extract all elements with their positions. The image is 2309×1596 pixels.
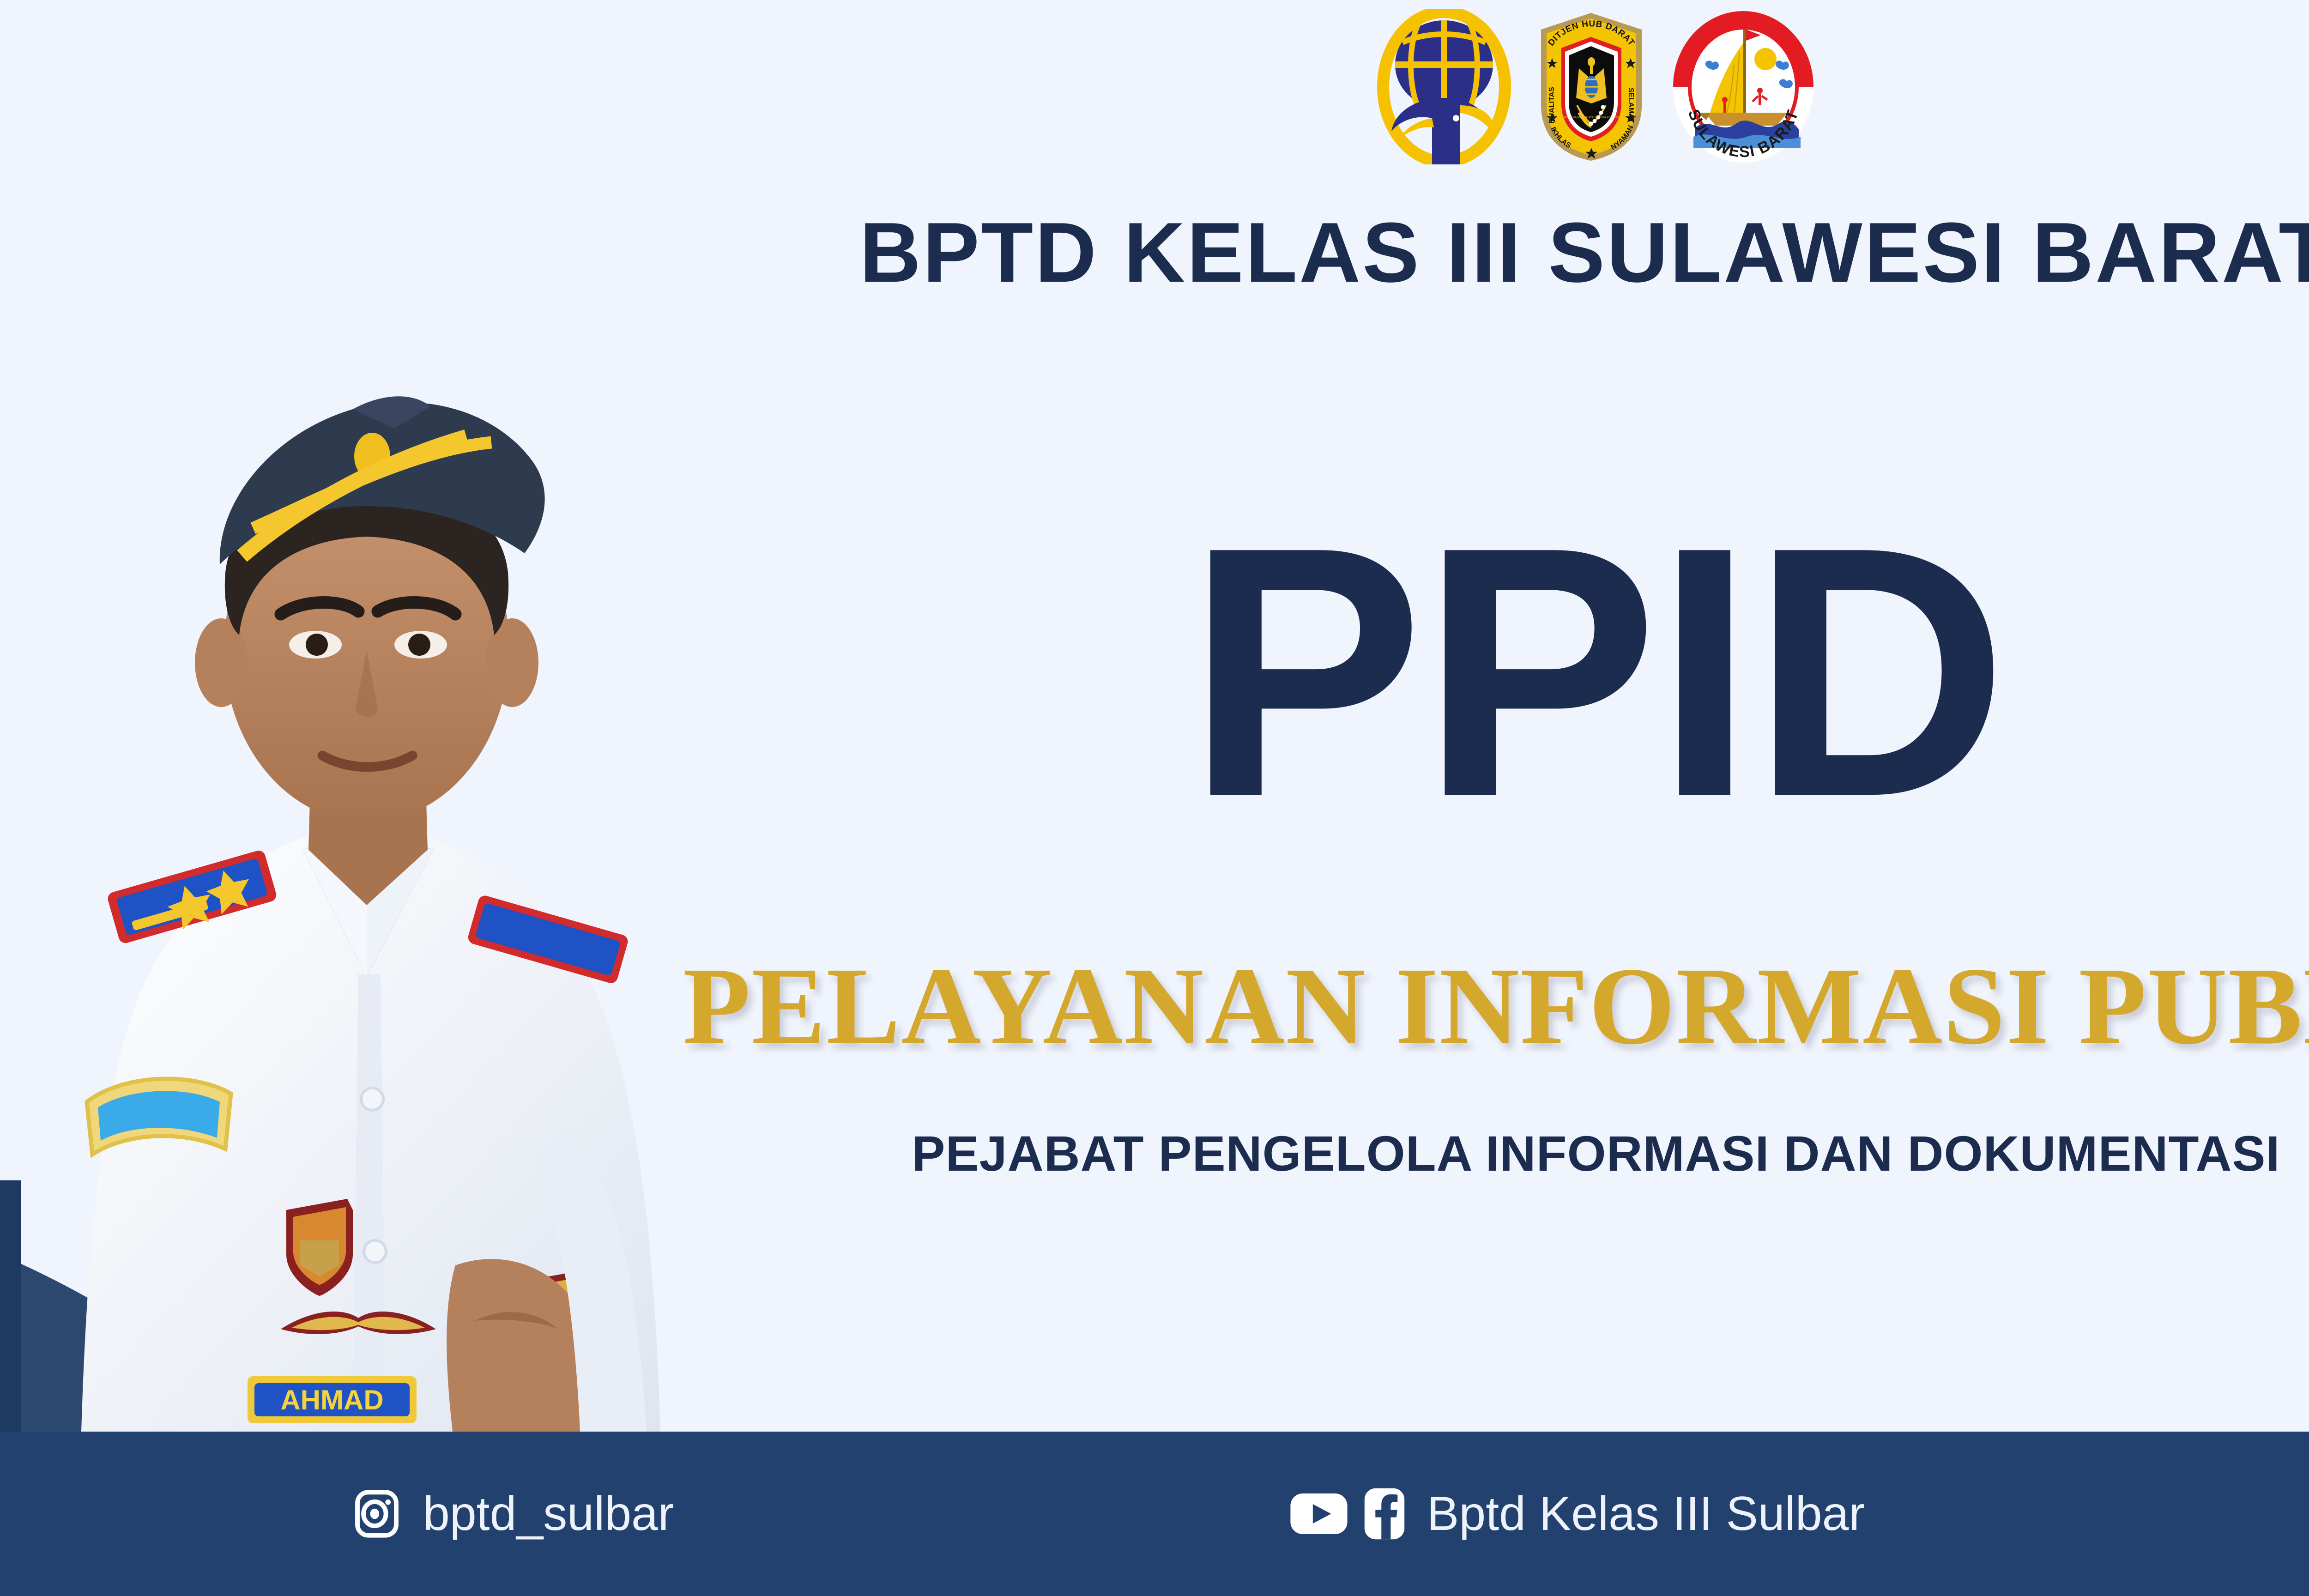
social-page-name: Bptd Kelas III Sulbar <box>1427 1487 1865 1542</box>
kemenhub-logo <box>1375 9 1513 164</box>
acronym-wrap: PPID <box>0 526 2309 818</box>
name-tag-text: AHMAD <box>280 1384 383 1415</box>
officer-portrait: AHMAD <box>9 351 730 1432</box>
page-title: BPTD KELAS III SULAWESI BARAT <box>0 203 2309 301</box>
footer-social[interactable]: Bptd Kelas III Sulbar <box>1288 1487 1865 1542</box>
facebook-icon[interactable] <box>1362 1487 1407 1541</box>
svg-text:WAHANA MANGHAYU WARGA PERTIWI: WAHANA MANGHAYU WARGA PERTIWI <box>1564 116 1619 119</box>
ppid-acronym: PPID <box>1186 526 2005 818</box>
bptd-kelas-iii-sulbar-logo: BPTD KELAS III SULAWESI BARAT <box>1669 9 1817 164</box>
instagram-handle: bptd_sulbar <box>423 1487 674 1542</box>
instagram-icon[interactable] <box>351 1488 403 1540</box>
subtitle: PEJABAT PENGELOLA INFORMASI DAN DOKUMENT… <box>0 1124 2309 1182</box>
footer-instagram[interactable]: bptd_sulbar <box>351 1487 674 1542</box>
tagline: PELAYANAN INFORMASI PUBLIK <box>0 942 2309 1070</box>
footer-bar: bptd_sulbar Bptd Kelas III Sulbar humasb <box>0 1432 2309 1596</box>
youtube-icon[interactable] <box>1288 1489 1349 1538</box>
ppid-banner: AHMAD <box>0 0 2309 1596</box>
ditjen-hubdat-logo: WAHANA MANGHAYU WARGA PERTIWI DITJEN HUB… <box>1523 9 1659 164</box>
logo-row: WAHANA MANGHAYU WARGA PERTIWI DITJEN HUB… <box>1375 9 1817 164</box>
